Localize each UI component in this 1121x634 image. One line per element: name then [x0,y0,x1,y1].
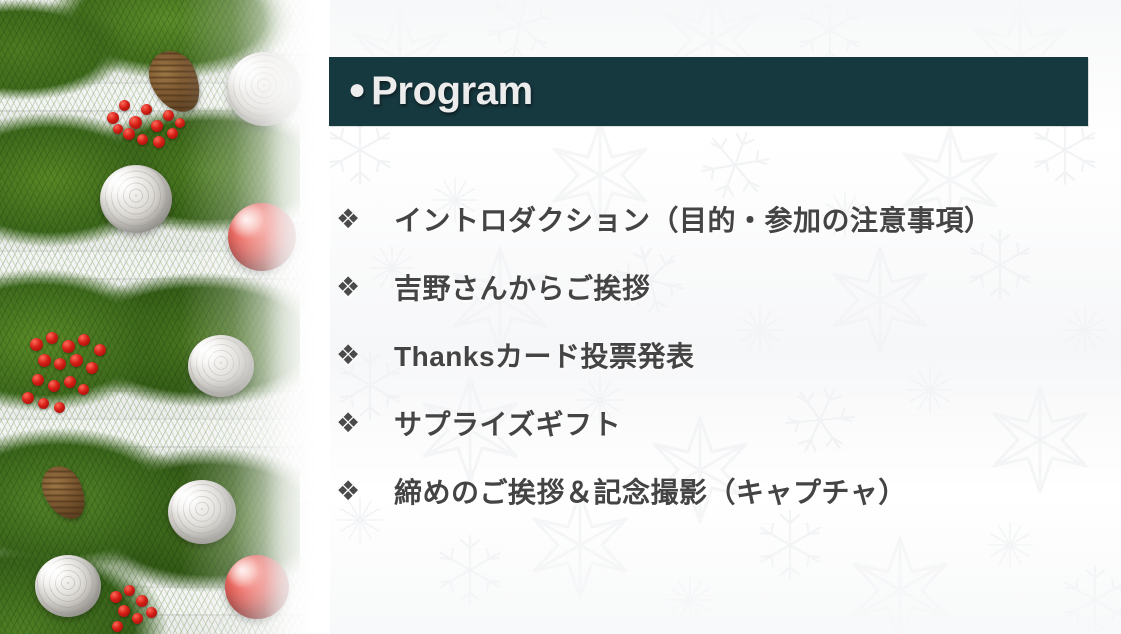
page-title: Program [371,69,533,114]
list-item: ❖ イントロダクション（目的・参加の注意事項） [336,185,1076,253]
list-item: ❖ サプライズギフト [336,389,1076,457]
silver-ornament [100,165,172,233]
diamond-cluster-bullet-icon: ❖ [336,410,394,437]
agenda-item-label: イントロダクション（目的・参加の注意事項） [394,199,993,239]
diamond-cluster-bullet-icon: ❖ [336,478,394,505]
slide-canvas: ● Program ❖ イントロダクション（目的・参加の注意事項） ❖ 吉野さん… [0,0,1121,634]
red-berry-cluster [18,330,128,420]
silver-ornament [35,555,101,617]
list-item: ❖ 締めのご挨拶＆記念撮影（キャプチャ） [336,457,1076,525]
filled-circle-icon: ● [348,75,366,105]
agenda-item-label: Thanksカード投票発表 [394,335,695,375]
diamond-cluster-bullet-icon: ❖ [336,342,394,369]
list-item: ❖ 吉野さんからご挨拶 [336,253,1076,321]
agenda-item-label: 吉野さんからご挨拶 [394,267,651,307]
diamond-cluster-bullet-icon: ❖ [336,274,394,301]
agenda-item-label: サプライズギフト [394,403,621,443]
list-item: ❖ Thanksカード投票発表 [336,321,1076,389]
agenda-list: ❖ イントロダクション（目的・参加の注意事項） ❖ 吉野さんからご挨拶 ❖ Th… [336,185,1076,525]
christmas-decoration-photo [0,0,330,634]
photo-edge-fade-inner [264,0,330,634]
slide-title-band: ● Program [329,57,1088,126]
red-berry-cluster [108,585,178,634]
diamond-cluster-bullet-icon: ❖ [336,206,394,233]
agenda-item-label: 締めのご挨拶＆記念撮影（キャプチャ） [394,471,907,511]
